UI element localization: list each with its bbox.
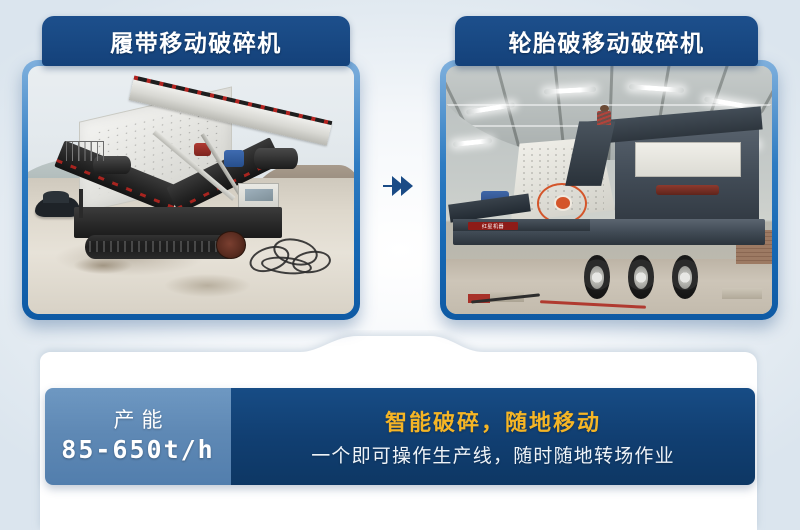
double-chevron-right-arrow-icon — [383, 172, 417, 200]
capacity-value: 85-650t/h — [61, 434, 214, 465]
capacity-badge: 产能 85-650t/h — [45, 388, 231, 485]
panel-title-wheeled: 轮胎破移动破碎机 — [509, 24, 705, 58]
photo-crawler-crusher — [28, 66, 354, 314]
photo-card-crawler[interactable] — [22, 60, 360, 320]
panel-title-crawler: 履带移动破碎机 — [110, 24, 282, 58]
blue-motor — [224, 150, 243, 167]
tri-axle-wheels — [578, 255, 741, 299]
brand-plate: 红星机器 — [468, 222, 518, 230]
chassis-frame — [74, 207, 282, 238]
crawler-track — [85, 235, 238, 259]
outrigger-pad — [722, 288, 763, 300]
safety-railing — [66, 141, 104, 161]
slogan-subline: 一个即可操作生产线，随时随地转场作业 — [311, 441, 675, 468]
photo-wheeled-crusher: 红星机器 — [446, 66, 772, 314]
support-leg — [79, 189, 83, 218]
track-sprocket — [216, 231, 246, 259]
slogan-headline: 智能破碎，随地移动 — [385, 405, 601, 437]
coiled-hoses — [243, 235, 341, 282]
slogan-panel: 智能破碎，随地移动 一个即可操作生产线，随时随地转场作业 — [231, 388, 755, 485]
panel-header-wheeled: 轮胎破移动破碎机 — [455, 16, 758, 66]
rotor-hub — [556, 197, 570, 209]
brand-plate-text: 红星机器 — [482, 222, 504, 230]
panel-header-crawler: 履带移动破碎机 — [42, 16, 350, 66]
photo-card-wheeled[interactable]: 红星机器 — [440, 60, 778, 320]
infographic-canvas: 履带移动破碎机 — [0, 0, 800, 530]
wheeled-crusher-machine: 红星机器 — [453, 165, 766, 294]
spec-bar: 产能 85-650t/h 智能破碎，随地移动 一个即可操作生产线，随时随地转场作… — [45, 388, 755, 485]
belt-drum — [254, 148, 298, 168]
worker-on-machine — [596, 105, 612, 126]
capacity-label: 产能 — [107, 408, 170, 434]
